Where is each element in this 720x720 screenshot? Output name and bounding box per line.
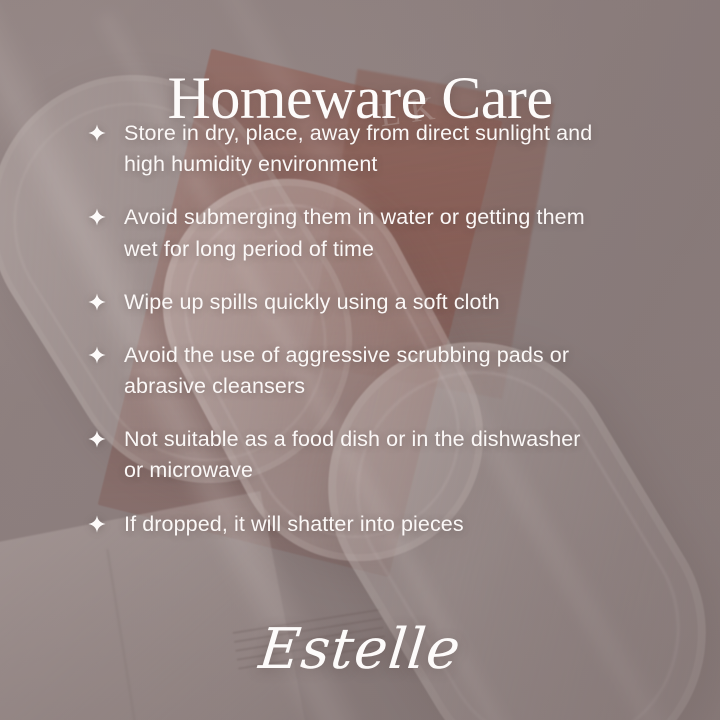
list-item: Avoid submerging them in water or gettin… (88, 202, 660, 264)
homeware-care-card: LK Homeware Care Store in dry, place, aw… (0, 0, 720, 720)
brand-signature: Estelle (0, 622, 720, 678)
list-item-label: Avoid submerging them in water or gettin… (124, 202, 604, 264)
list-item-label: Store in dry, place, away from direct su… (124, 118, 604, 180)
list-item: Store in dry, place, away from direct su… (88, 118, 660, 180)
content-area: Homeware Care Store in dry, place, away … (0, 0, 720, 720)
sparkle-star-icon (88, 430, 106, 448)
sparkle-star-icon (88, 124, 106, 142)
list-item: If dropped, it will shatter into pieces (88, 509, 660, 540)
list-item: Not suitable as a food dish or in the di… (88, 424, 660, 486)
list-item-label: If dropped, it will shatter into pieces (124, 509, 464, 540)
list-item: Avoid the use of aggressive scrubbing pa… (88, 340, 660, 402)
sparkle-star-icon (88, 346, 106, 364)
list-item-label: Not suitable as a food dish or in the di… (124, 424, 604, 486)
sparkle-star-icon (88, 208, 106, 226)
care-instruction-list: Store in dry, place, away from direct su… (88, 118, 660, 562)
list-item-label: Avoid the use of aggressive scrubbing pa… (124, 340, 604, 402)
sparkle-star-icon (88, 293, 106, 311)
sparkle-star-icon (88, 515, 106, 533)
list-item-label: Wipe up spills quickly using a soft clot… (124, 287, 500, 318)
list-item: Wipe up spills quickly using a soft clot… (88, 287, 660, 318)
